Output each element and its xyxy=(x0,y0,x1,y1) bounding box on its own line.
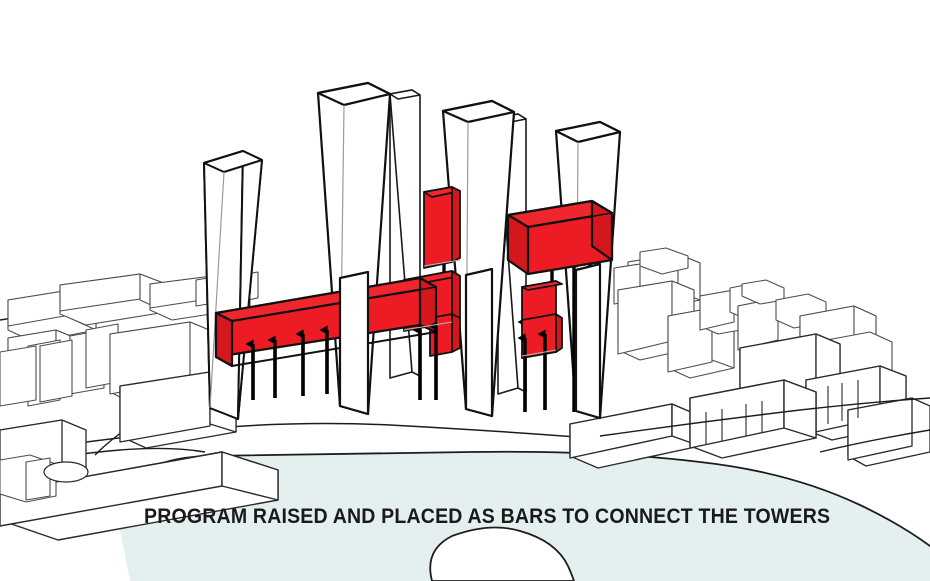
architectural-massing-scene xyxy=(0,0,930,581)
program-bar-right xyxy=(508,201,612,274)
diagram-caption: PROGRAM RAISED AND PLACED AS BARS TO CON… xyxy=(144,505,830,529)
program-bar-right-lower xyxy=(522,281,562,358)
diagram-canvas: PROGRAM RAISED AND PLACED AS BARS TO CON… xyxy=(0,0,930,581)
context-buildings-right xyxy=(570,248,930,468)
program-bar-middle-upper xyxy=(424,187,460,268)
